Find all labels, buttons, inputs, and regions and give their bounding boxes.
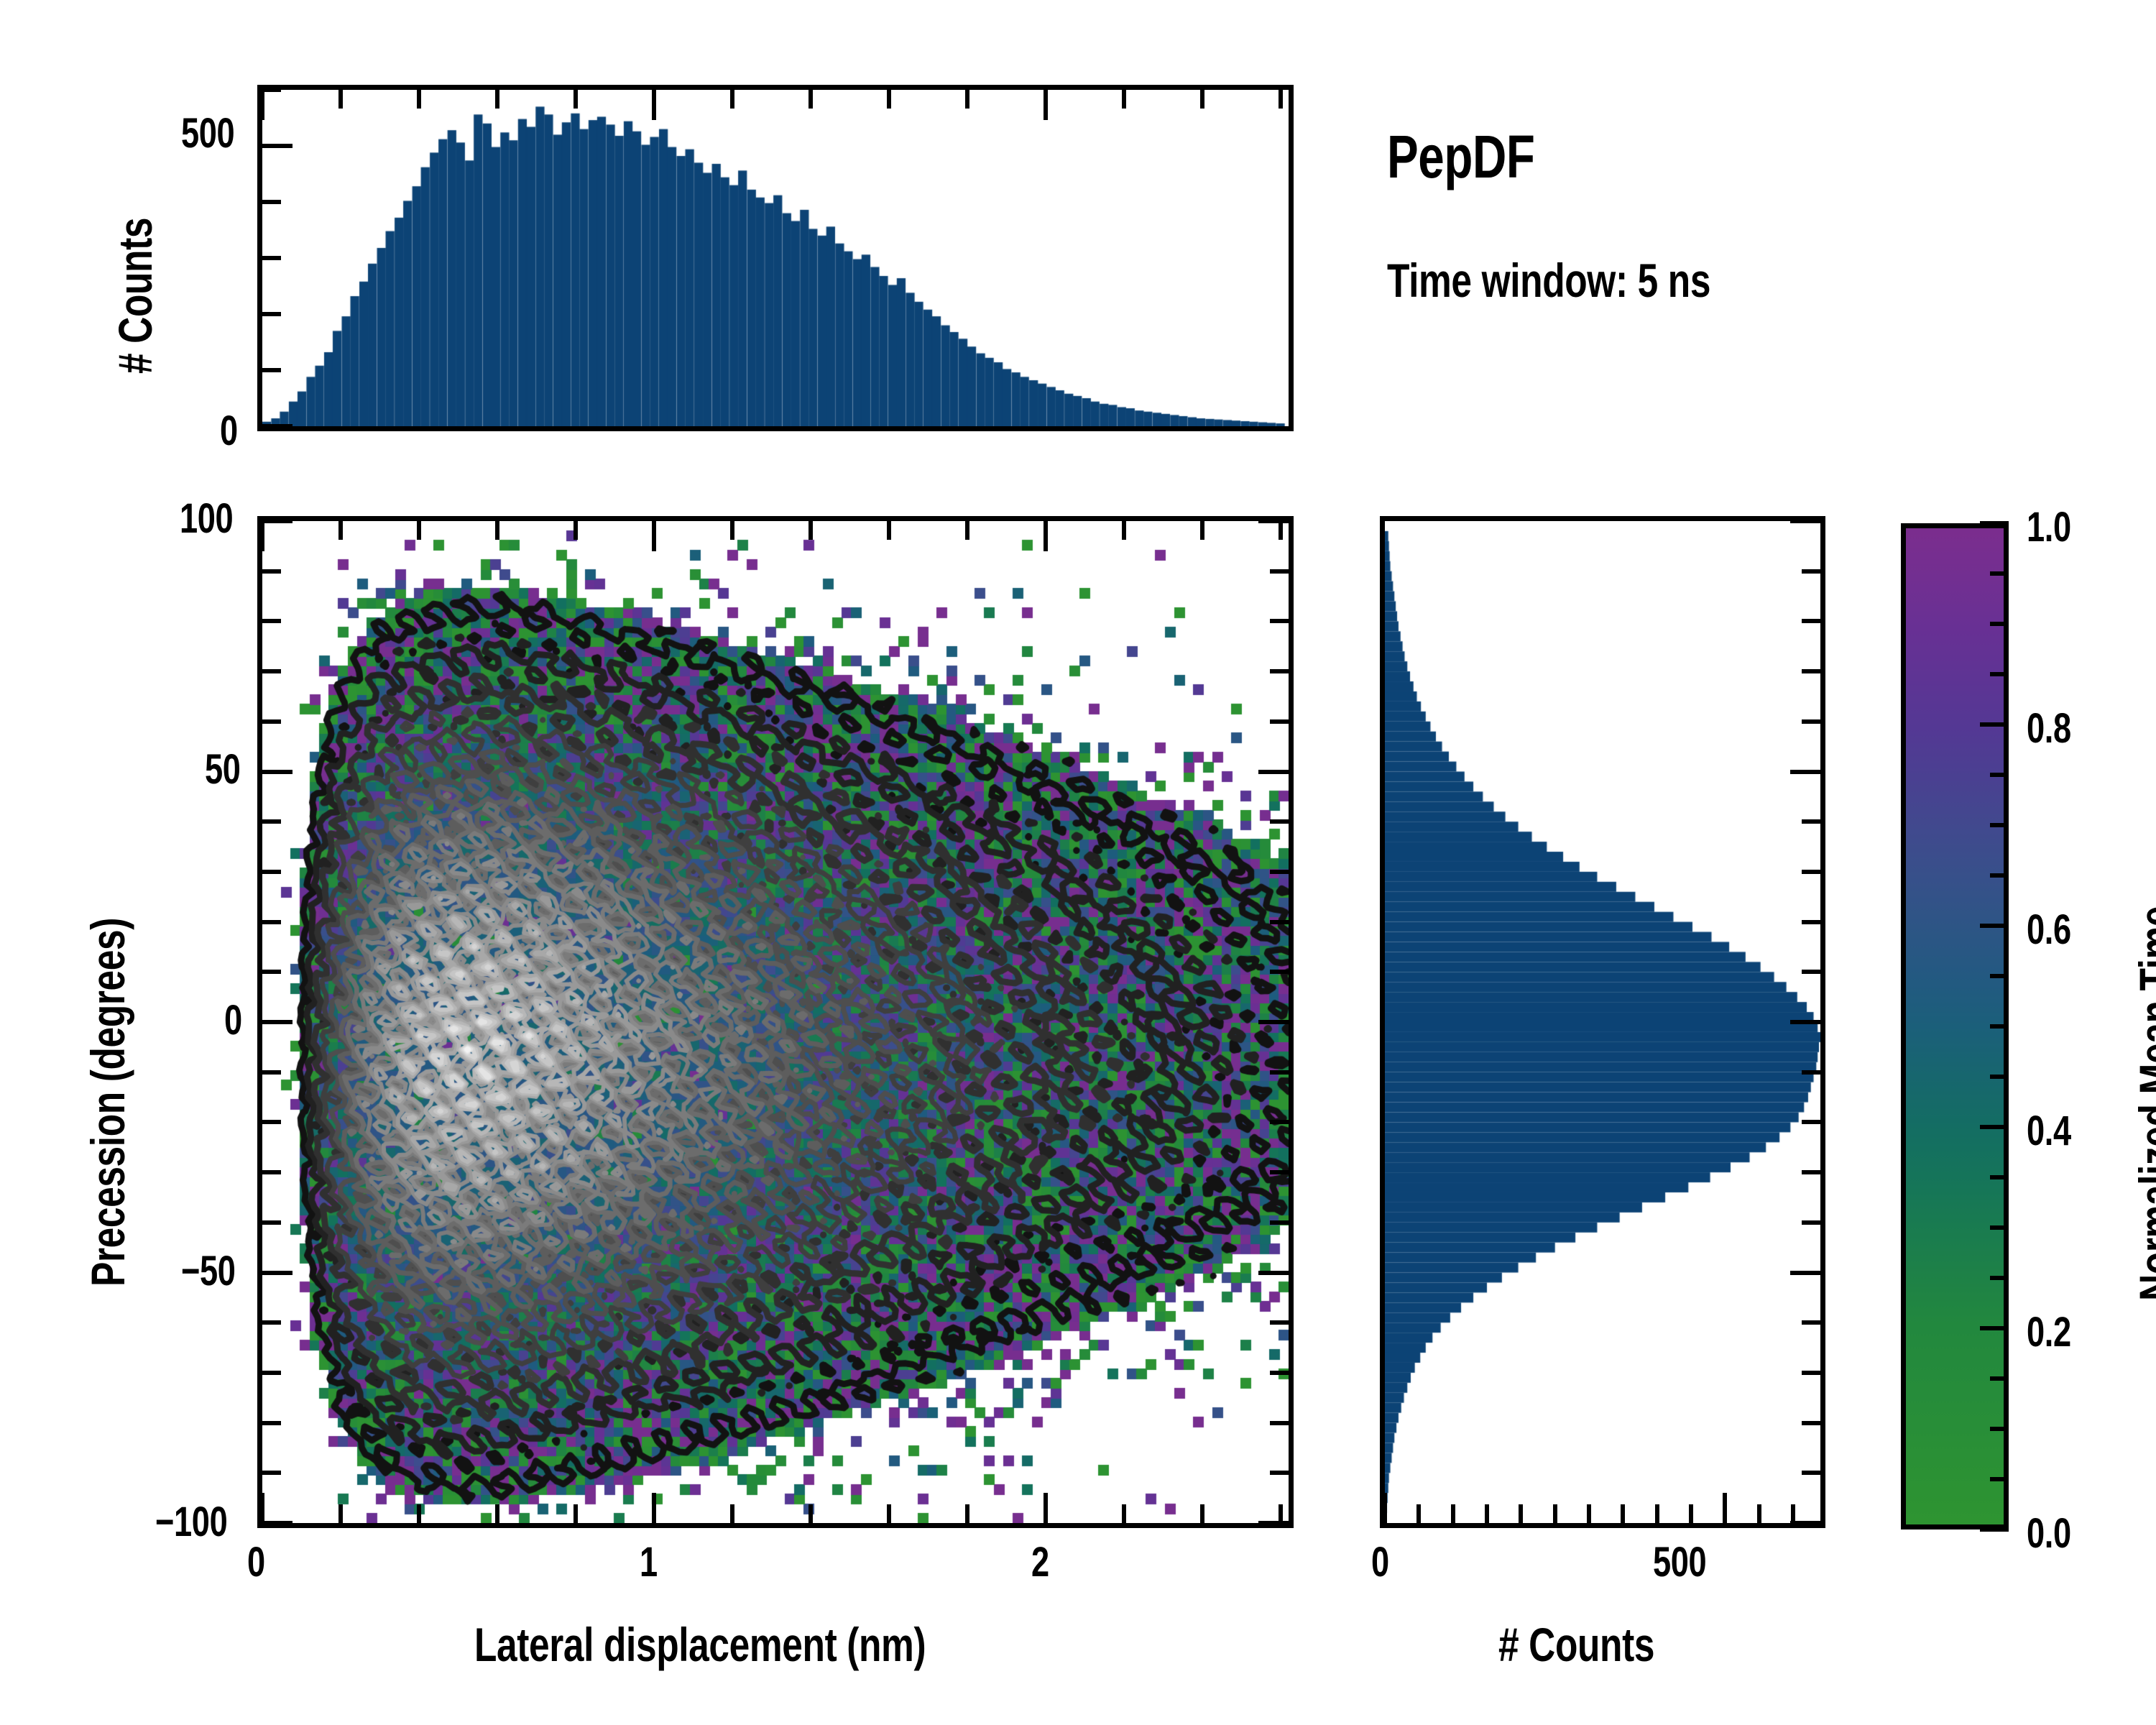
axis-tick — [1990, 622, 2009, 626]
axis-tick — [1990, 1175, 2009, 1179]
axis-tick — [1270, 1220, 1289, 1225]
axis-tick — [262, 920, 281, 924]
axis-tick — [1790, 1271, 1820, 1275]
axis-tick — [1790, 1020, 1820, 1024]
axis-tick — [262, 1371, 281, 1375]
axis-tick — [1802, 1320, 1820, 1325]
main-xtick-2: 2 — [1031, 1538, 1049, 1586]
axis-tick — [1980, 1527, 2009, 1532]
axis-tick — [1270, 870, 1289, 874]
right-histogram-xtick-0: 0 — [1371, 1538, 1389, 1586]
axis-tick — [262, 144, 292, 148]
axis-tick — [808, 521, 813, 540]
axis-tick — [652, 1493, 656, 1523]
colorbar-tick-0p6: 0.6 — [2027, 906, 2071, 954]
axis-tick — [260, 90, 264, 120]
axis-tick — [1270, 920, 1289, 924]
axis-tick — [1990, 773, 2009, 777]
axis-tick — [1270, 970, 1289, 974]
axis-tick — [262, 1020, 292, 1024]
axis-tick — [262, 1421, 281, 1425]
axis-tick — [1270, 619, 1289, 623]
axis-tick — [1802, 970, 1820, 974]
right-histogram-plot-area — [1385, 521, 1820, 1523]
figure-title: PepDF — [1387, 122, 1535, 192]
main-ytick-100: 100 — [180, 494, 233, 543]
axis-tick — [495, 1504, 499, 1523]
axis-tick — [1587, 1504, 1591, 1523]
axis-tick — [1270, 569, 1289, 574]
right-histogram-xlabel: # Counts — [1498, 1617, 1654, 1672]
main-ytick-neg100: −100 — [155, 1498, 227, 1546]
axis-tick — [1258, 519, 1289, 523]
axis-tick — [652, 90, 656, 120]
axis-tick — [1200, 521, 1204, 540]
top-histogram-ytick-0: 0 — [220, 407, 238, 455]
axis-tick — [1689, 1504, 1693, 1523]
axis-tick — [1258, 1521, 1289, 1525]
axis-tick — [262, 424, 292, 428]
axis-tick — [1802, 719, 1820, 724]
axis-tick — [1802, 619, 1820, 623]
axis-tick — [417, 1504, 421, 1523]
colorbar-tick-0p4: 0.4 — [2027, 1107, 2071, 1155]
axis-tick — [1980, 521, 2009, 525]
main-heatmap-plot-area — [262, 521, 1289, 1523]
axis-tick — [1122, 521, 1126, 540]
axis-tick — [1990, 823, 2009, 827]
axis-tick — [1279, 90, 1283, 109]
axis-tick — [1980, 722, 2009, 727]
colorbar-tick-0p0: 0.0 — [2027, 1509, 2071, 1558]
top-histogram-ylabel: # Counts — [108, 218, 162, 374]
axis-tick — [262, 569, 281, 574]
axis-tick — [1790, 519, 1820, 523]
axis-tick — [1122, 90, 1126, 109]
axis-tick — [1990, 1024, 2009, 1029]
axis-tick — [1044, 1493, 1048, 1523]
axis-tick — [262, 1471, 281, 1475]
right-histogram-xtick-500: 500 — [1653, 1538, 1706, 1586]
axis-tick — [1416, 1504, 1421, 1523]
axis-tick — [1270, 1471, 1289, 1475]
axis-tick — [262, 88, 281, 92]
axis-tick — [1790, 770, 1820, 774]
axis-tick — [1990, 873, 2009, 878]
axis-tick — [1200, 1504, 1204, 1523]
axis-tick — [887, 1504, 891, 1523]
axis-tick — [1802, 569, 1820, 574]
axis-tick — [1980, 1125, 2009, 1129]
axis-tick — [1451, 1504, 1455, 1523]
axis-tick — [887, 521, 891, 540]
axis-tick — [262, 1070, 281, 1075]
axis-tick — [965, 521, 969, 540]
axis-tick — [1802, 920, 1820, 924]
main-ytick-50: 50 — [205, 745, 241, 793]
axis-tick — [262, 970, 281, 974]
axis-tick — [262, 1220, 281, 1225]
axis-tick — [262, 819, 281, 824]
axis-tick — [1270, 719, 1289, 724]
axis-tick — [1279, 521, 1283, 540]
axis-tick — [1802, 819, 1820, 824]
axis-tick — [1990, 1276, 2009, 1280]
top-histogram-ytick-500: 500 — [181, 109, 234, 157]
axis-tick — [495, 90, 499, 109]
figure-subtitle: Time window: 5 ns — [1387, 253, 1710, 308]
axis-tick — [1990, 571, 2009, 576]
axis-tick — [1258, 770, 1289, 774]
axis-tick — [1485, 1504, 1489, 1523]
axis-tick — [1270, 1320, 1289, 1325]
axis-tick — [1802, 669, 1820, 673]
axis-tick — [262, 1170, 281, 1174]
main-xlabel: Lateral displacement (nm) — [474, 1617, 926, 1672]
axis-tick — [1980, 1326, 2009, 1330]
top-histogram-plot-area — [262, 90, 1289, 426]
axis-tick — [262, 312, 281, 316]
axis-tick — [417, 90, 421, 109]
axis-tick — [1258, 1271, 1289, 1275]
axis-tick — [262, 1320, 281, 1325]
axis-tick — [1270, 1070, 1289, 1075]
axis-tick — [1553, 1504, 1557, 1523]
axis-tick — [262, 256, 281, 260]
colorbar-tick-0p2: 0.2 — [2027, 1308, 2071, 1356]
axis-tick — [260, 521, 264, 551]
axis-tick — [1980, 924, 2009, 928]
axis-tick — [1802, 1371, 1820, 1375]
axis-tick — [1200, 90, 1204, 109]
axis-tick — [1270, 1170, 1289, 1174]
axis-tick — [262, 669, 281, 673]
axis-tick — [573, 90, 578, 109]
axis-tick — [1383, 1493, 1387, 1523]
axis-tick — [1621, 1504, 1625, 1523]
axis-tick — [1044, 521, 1048, 551]
axis-tick — [1802, 1471, 1820, 1475]
axis-tick — [495, 521, 499, 540]
colorbar-tick-1p0: 1.0 — [2027, 503, 2071, 551]
axis-tick — [260, 1493, 264, 1523]
axis-tick — [1270, 669, 1289, 673]
colorbar-label: Normalized Mean Time — [2129, 906, 2156, 1301]
axis-tick — [1990, 974, 2009, 978]
axis-tick — [1990, 1225, 2009, 1230]
axis-tick — [1757, 1504, 1761, 1523]
axis-tick — [1122, 1504, 1126, 1523]
axis-tick — [1790, 1521, 1820, 1525]
axis-tick — [262, 770, 292, 774]
axis-tick — [262, 619, 281, 623]
axis-tick — [262, 519, 292, 523]
main-ytick-neg50: −50 — [181, 1247, 236, 1295]
axis-tick — [338, 1504, 343, 1523]
axis-tick — [1990, 1427, 2009, 1431]
axis-tick — [262, 1521, 292, 1525]
axis-tick — [1802, 1421, 1820, 1425]
axis-tick — [1802, 1120, 1820, 1124]
axis-tick — [573, 521, 578, 540]
main-xtick-1: 1 — [640, 1538, 658, 1586]
axis-tick — [262, 368, 281, 372]
axis-tick — [1655, 1504, 1659, 1523]
axis-tick — [1802, 1220, 1820, 1225]
axis-tick — [262, 719, 281, 724]
axis-tick — [1990, 1376, 2009, 1381]
axis-tick — [1802, 1070, 1820, 1075]
axis-tick — [262, 870, 281, 874]
axis-tick — [808, 90, 813, 109]
main-ytick-0: 0 — [224, 996, 242, 1044]
main-xtick-0: 0 — [247, 1538, 265, 1586]
axis-tick — [573, 1504, 578, 1523]
axis-tick — [262, 1120, 281, 1124]
axis-tick — [1990, 1477, 2009, 1481]
axis-tick — [1270, 1371, 1289, 1375]
axis-tick — [1519, 1504, 1523, 1523]
axis-tick — [1723, 1493, 1727, 1523]
axis-tick — [1990, 1075, 2009, 1079]
axis-tick — [730, 1504, 734, 1523]
axis-tick — [965, 90, 969, 109]
axis-tick — [262, 1271, 292, 1275]
axis-tick — [1270, 1421, 1289, 1425]
axis-tick — [262, 200, 281, 204]
colorbar-tick-0p8: 0.8 — [2027, 704, 2071, 753]
axis-tick — [338, 90, 343, 109]
axis-tick — [730, 90, 734, 109]
axis-tick — [1258, 1020, 1289, 1024]
axis-tick — [730, 521, 734, 540]
axis-tick — [1802, 870, 1820, 874]
axis-tick — [887, 90, 891, 109]
main-ylabel: Precession (degrees) — [80, 918, 135, 1287]
axis-tick — [652, 521, 656, 551]
axis-tick — [417, 521, 421, 540]
axis-tick — [808, 1504, 813, 1523]
axis-tick — [1990, 672, 2009, 676]
axis-tick — [965, 1504, 969, 1523]
figure-root: 500 0 # Counts PepDF Time window: 5 ns 1… — [0, 0, 2156, 1725]
axis-tick — [1270, 1120, 1289, 1124]
axis-tick — [1802, 1170, 1820, 1174]
axis-tick — [338, 521, 343, 540]
axis-tick — [1270, 819, 1289, 824]
axis-tick — [1044, 90, 1048, 120]
